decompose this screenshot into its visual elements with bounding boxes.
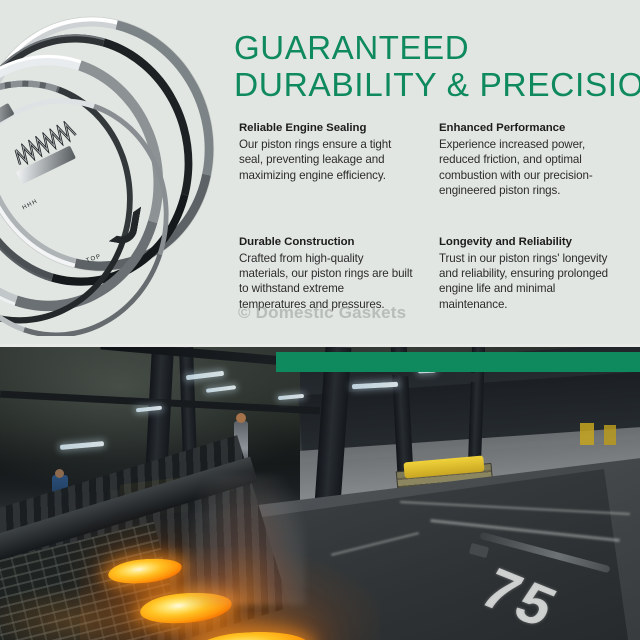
top-content-section: HHH XX TOP GUARANTEED DURABILITY & PRECI… [0,0,640,347]
feature-title: Reliable Engine Sealing [239,121,414,136]
feature-body: Trust in our piston rings' longevity and… [439,251,614,313]
feature-item-enhanced-performance: Enhanced Performance Experience increase… [439,121,614,199]
feature-body: Our piston rings ensure a tight seal, pr… [239,137,414,183]
piston-rings-product-image: HHH XX TOP [0,6,250,336]
green-accent-bar [276,352,640,372]
headline-line-1: GUARANTEED [234,29,634,67]
poster-canvas: HHH XX TOP GUARANTEED DURABILITY & PRECI… [0,0,640,640]
hot-metal-side-glow [0,585,140,640]
worker-center-head [236,413,246,423]
factory-forging-photo: 75 [0,347,640,640]
feature-title: Longevity and Reliability [439,235,614,250]
feature-title: Enhanced Performance [439,121,614,136]
feature-title: Durable Construction [239,235,414,250]
feature-body: Crafted from high-quality materials, our… [239,251,414,313]
headline-block: GUARANTEED DURABILITY & PRECISION [234,29,634,105]
feature-item-reliable-engine-sealing: Reliable Engine Sealing Our piston rings… [239,121,414,199]
flame-smoke-plume [186,475,306,605]
worker-left-head [55,469,64,478]
distant-yellow-machine-1 [580,423,594,445]
feature-grid: Reliable Engine Sealing Our piston rings… [239,121,625,312]
feature-body: Experience increased power, reduced fric… [439,137,614,199]
headline-line-2: DURABILITY & PRECISION [234,67,634,105]
distant-yellow-machine-2 [604,425,616,445]
feature-item-durable-construction: Durable Construction Crafted from high-q… [239,235,414,313]
feature-item-longevity-and-reliability: Longevity and Reliability Trust in our p… [439,235,614,313]
